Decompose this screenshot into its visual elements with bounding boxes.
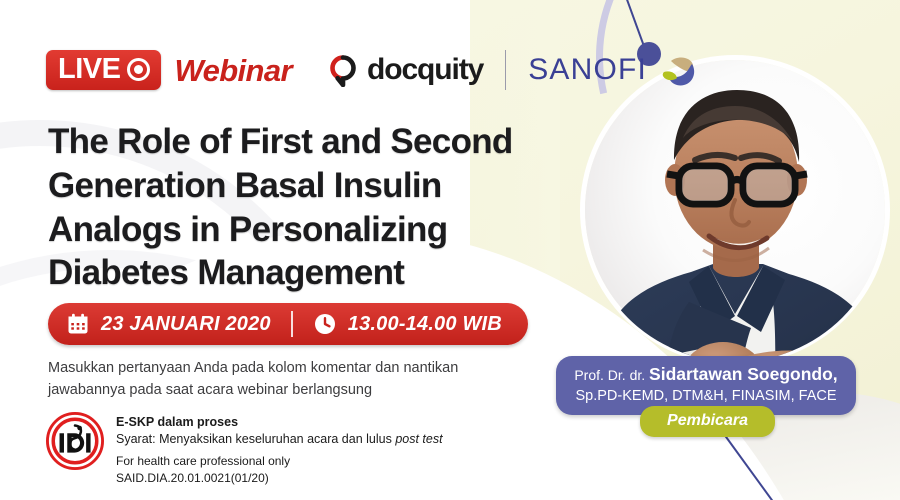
- post-test-emphasis: post test: [395, 432, 442, 446]
- disclaimer-text: E-SKP dalam proses Syarat: Menyaksikan k…: [116, 412, 443, 486]
- docquity-label: docquity: [367, 55, 483, 85]
- speaker-role-badge: Pembicara: [640, 406, 775, 437]
- eskp-requirement-prefix: Syarat: Menyaksikan keseluruhan acara da…: [116, 432, 395, 446]
- event-date: 23 JANUARI 2020: [101, 313, 271, 336]
- logo-divider: [505, 50, 506, 90]
- docquity-speech-bubble-icon: [326, 53, 360, 87]
- event-time: 13.00-14.00 WIB: [348, 313, 502, 336]
- speaker-photo: [585, 60, 885, 360]
- page-title: The Role of First and Second Generation …: [48, 120, 578, 295]
- sanofi-swirl-icon: [658, 50, 698, 90]
- speaker-credentials: Sp.PD-KEMD, DTM&H, FINASIM, FACE: [566, 387, 846, 407]
- clock-icon: [313, 312, 337, 336]
- pill-divider: [291, 311, 293, 337]
- speaker-title-prefix: Prof. Dr. dr.: [574, 367, 649, 383]
- date-segment: 23 JANUARI 2020: [66, 312, 271, 336]
- header-logo-row: LIVE Webinar docquity SANOFI: [46, 44, 698, 96]
- webinar-banner: LIVE Webinar docquity SANOFI The Role of…: [0, 0, 900, 500]
- hcp-only-note: For health care professional only: [116, 453, 443, 470]
- disclaimer-block: E-SKP dalam proses Syarat: Menyaksikan k…: [46, 412, 443, 486]
- speaker-name: Sidartawan Soegondo,: [649, 364, 838, 384]
- webinar-label: Webinar: [174, 55, 292, 86]
- eskp-requirement: Syarat: Menyaksikan keseluruhan acara da…: [116, 431, 443, 448]
- time-segment: 13.00-14.00 WIB: [313, 312, 502, 336]
- instruction-note: Masukkan pertanyaan Anda pada kolom kome…: [48, 357, 488, 402]
- eskp-status: E-SKP dalam proses: [116, 414, 443, 431]
- schedule-pill: 23 JANUARI 2020 13.00-14.00 WIB: [48, 303, 528, 345]
- speaker-role-label: Pembicara: [667, 412, 748, 429]
- record-icon: [127, 58, 150, 81]
- live-label: LIVE: [58, 55, 120, 84]
- approval-code: SAID.DIA.20.01.0021(01/20): [116, 470, 443, 487]
- docquity-logo: docquity: [326, 53, 483, 87]
- sanofi-label: SANOFI: [528, 55, 647, 85]
- sanofi-logo: SANOFI: [528, 50, 698, 90]
- calendar-icon: [66, 312, 90, 336]
- speaker-name-line: Prof. Dr. dr. Sidartawan Soegondo,: [566, 363, 846, 386]
- live-badge: LIVE: [46, 50, 161, 90]
- idi-logo-icon: [46, 412, 104, 470]
